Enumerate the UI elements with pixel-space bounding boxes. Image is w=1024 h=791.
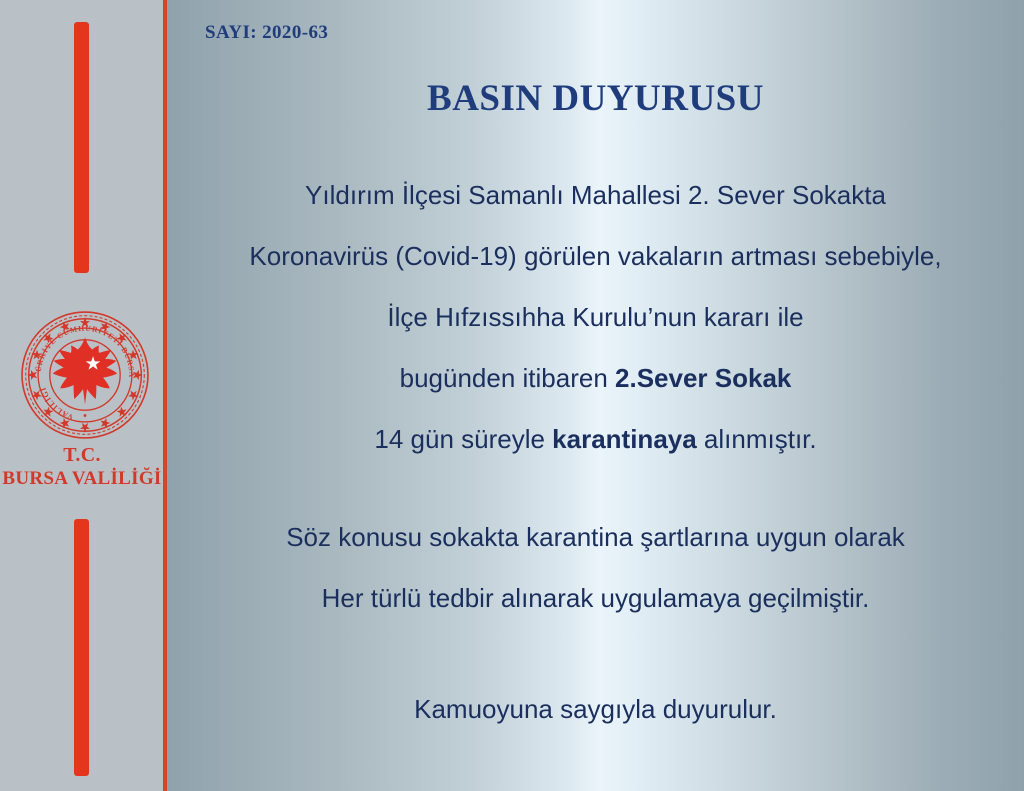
document-reference: SAYI: 2020-63 bbox=[205, 22, 328, 44]
announcement-line: Koronavirüs (Covid-19) görülen vakaların… bbox=[167, 241, 1024, 272]
announcement-closing: Kamuoyuna saygıyla duyurulur. bbox=[167, 694, 1024, 725]
announcement-line: İlçe Hıfzıssıhha Kurulu’nun kararı ile bbox=[167, 302, 1024, 333]
announcement-emphasis: 2.Sever Sokak bbox=[615, 363, 791, 393]
announcement-line: Söz konusu sokakta karantina şartlarına … bbox=[167, 522, 1024, 553]
press-release-poster: TÜRKİYE CUMHURİYETİ BURSA VALİLİĞİ T.C. … bbox=[0, 0, 1024, 791]
state-emblem-icon: TÜRKİYE CUMHURİYETİ BURSA VALİLİĞİ bbox=[18, 308, 152, 442]
main-panel: SAYI: 2020-63 BASIN DUYURUSU Yıldırım İl… bbox=[167, 0, 1024, 791]
announcement-emphasis: karantinaya bbox=[552, 424, 697, 454]
page-title: BASIN DUYURUSU bbox=[167, 77, 1024, 120]
announcement-line: Kamuoyuna saygıyla duyurulur. bbox=[167, 694, 1024, 725]
announcement-line: bugünden itibaren 2.Sever Sokak bbox=[167, 363, 1024, 394]
organization-tc: T.C. bbox=[0, 444, 164, 468]
organization-name: BURSA VALİLİĞİ bbox=[0, 468, 164, 490]
announcement-line: Yıldırım İlçesi Samanlı Mahallesi 2. Sev… bbox=[167, 180, 1024, 211]
accent-bar-top bbox=[74, 22, 89, 273]
announcement-line: 14 gün süreyle karantinaya alınmıştır. bbox=[167, 424, 1024, 455]
announcement-second-paragraph: Söz konusu sokakta karantina şartlarına … bbox=[167, 522, 1024, 644]
accent-bar-bottom bbox=[74, 519, 89, 776]
announcement-main-paragraph: Yıldırım İlçesi Samanlı Mahallesi 2. Sev… bbox=[167, 180, 1024, 485]
announcement-line: Her türlü tedbir alınarak uygulamaya geç… bbox=[167, 583, 1024, 614]
organization-title: T.C. BURSA VALİLİĞİ bbox=[0, 444, 164, 490]
left-panel: TÜRKİYE CUMHURİYETİ BURSA VALİLİĞİ T.C. … bbox=[0, 0, 164, 791]
